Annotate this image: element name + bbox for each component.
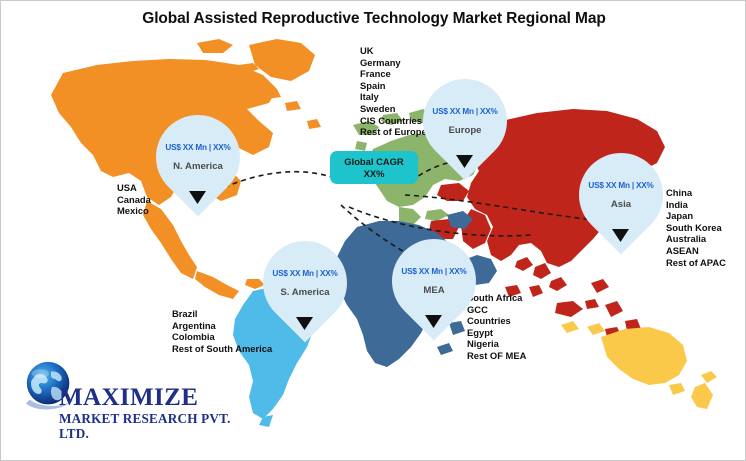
map-pin-europe[interactable]: US$ XX Mn | XX% Europe	[423, 79, 507, 177]
pin-value: US$ XX Mn | XX%	[401, 267, 466, 276]
pin-region-name: Asia	[611, 199, 631, 210]
global-cagr-value: XX%	[364, 168, 385, 180]
pin-value: US$ XX Mn | XX%	[432, 107, 497, 116]
global-cagr-label: Global CAGR	[344, 156, 403, 168]
country-item: CIS Countries	[360, 115, 427, 127]
pin-label-group: US$ XX Mn | XX% Asia	[579, 153, 663, 237]
global-cagr-badge: Global CAGR XX%	[330, 151, 418, 184]
company-logo: MAXIMIZE MARKET RESEARCH PVT. LTD.	[15, 357, 255, 429]
country-item: Nigeria	[467, 338, 526, 350]
country-item: India	[666, 199, 726, 211]
country-item: Brazil	[172, 308, 272, 320]
logo-wordmark: MAXIMIZE MARKET RESEARCH PVT. LTD.	[59, 385, 255, 441]
country-item: Canada	[117, 194, 151, 206]
country-item: France	[360, 68, 427, 80]
country-list-europe: UK Germany France Spain Italy Sweden CIS…	[360, 45, 427, 138]
country-item: Germany	[360, 57, 427, 69]
country-list-asia-pacific: China India Japan South Korea Australia …	[666, 187, 726, 268]
map-pin-north-america[interactable]: US$ XX Mn | XX% N. America	[156, 115, 240, 213]
country-item: China	[666, 187, 726, 199]
map-pin-mea[interactable]: US$ XX Mn | XX% MEA	[392, 239, 476, 337]
pin-label-group: US$ XX Mn | XX% N. America	[156, 115, 240, 199]
country-item: Rest of Europe	[360, 126, 427, 138]
pin-value: US$ XX Mn | XX%	[588, 181, 653, 190]
country-item: Australia	[666, 233, 726, 245]
country-item: Rest of APAC	[666, 257, 726, 269]
country-item: Mexico	[117, 205, 151, 217]
map-pin-asia[interactable]: US$ XX Mn | XX% Asia	[579, 153, 663, 251]
pin-region-name: MEA	[423, 285, 444, 296]
country-item: Italy	[360, 91, 427, 103]
country-item: Colombia	[172, 331, 272, 343]
map-pin-south-america[interactable]: US$ XX Mn | XX% S. America	[263, 241, 347, 339]
country-item: ASEAN	[666, 245, 726, 257]
country-item: USA	[117, 182, 151, 194]
regional-map-infographic: Global Assisted Reproductive Technology …	[0, 0, 746, 461]
country-item: Rest of South America	[172, 343, 272, 355]
country-item: Japan	[666, 210, 726, 222]
pin-label-group: US$ XX Mn | XX% Europe	[423, 79, 507, 163]
country-item: UK	[360, 45, 427, 57]
logo-company-name: MAXIMIZE	[59, 385, 255, 411]
pin-label-group: US$ XX Mn | XX% MEA	[392, 239, 476, 323]
country-list-south-america: Brazil Argentina Colombia Rest of South …	[172, 308, 272, 354]
map-region-oceania	[561, 321, 717, 409]
country-item: South Korea	[666, 222, 726, 234]
country-item: Argentina	[172, 320, 272, 332]
country-item: Sweden	[360, 103, 427, 115]
country-item: Rest OF MEA	[467, 350, 526, 362]
country-list-north-america: USA Canada Mexico	[117, 182, 151, 217]
page-title: Global Assisted Reproductive Technology …	[1, 10, 746, 28]
pin-region-name: S. America	[280, 287, 329, 298]
pin-region-name: N. America	[173, 161, 223, 172]
pin-value: US$ XX Mn | XX%	[272, 269, 337, 278]
logo-company-subtitle: MARKET RESEARCH PVT. LTD.	[59, 411, 255, 441]
country-item: Spain	[360, 80, 427, 92]
pin-region-name: Europe	[448, 125, 481, 136]
pin-label-group: US$ XX Mn | XX% S. America	[263, 241, 347, 325]
pin-value: US$ XX Mn | XX%	[165, 143, 230, 152]
